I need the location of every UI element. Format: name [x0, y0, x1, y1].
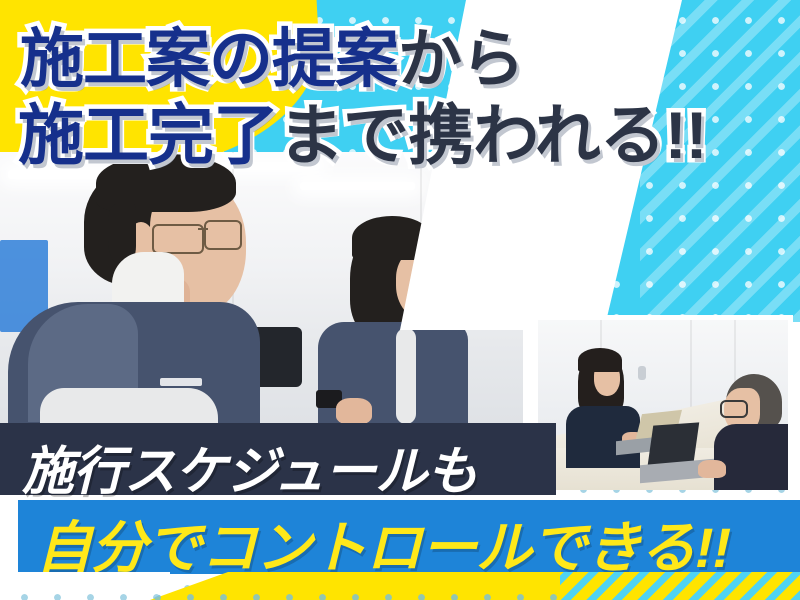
dark-caption-text: 施行スケジュールも	[22, 429, 477, 504]
glasses-icon	[152, 224, 204, 254]
bottom-diagonal-stripes	[560, 572, 800, 600]
uniform-logo	[160, 378, 202, 386]
glasses-icon	[204, 220, 242, 250]
glasses-icon	[720, 400, 748, 418]
bottom-yellow-dot-overlay	[150, 572, 580, 600]
ceiling-light-icon	[300, 182, 415, 190]
door-handle	[638, 366, 646, 380]
inset-photo	[533, 315, 793, 495]
bottom-left-dot-strip	[0, 572, 170, 600]
poster-canvas: 施工案の提案から 施工完了まで携われる!! 施行スケジュールも 自分でコントロー…	[0, 0, 800, 600]
